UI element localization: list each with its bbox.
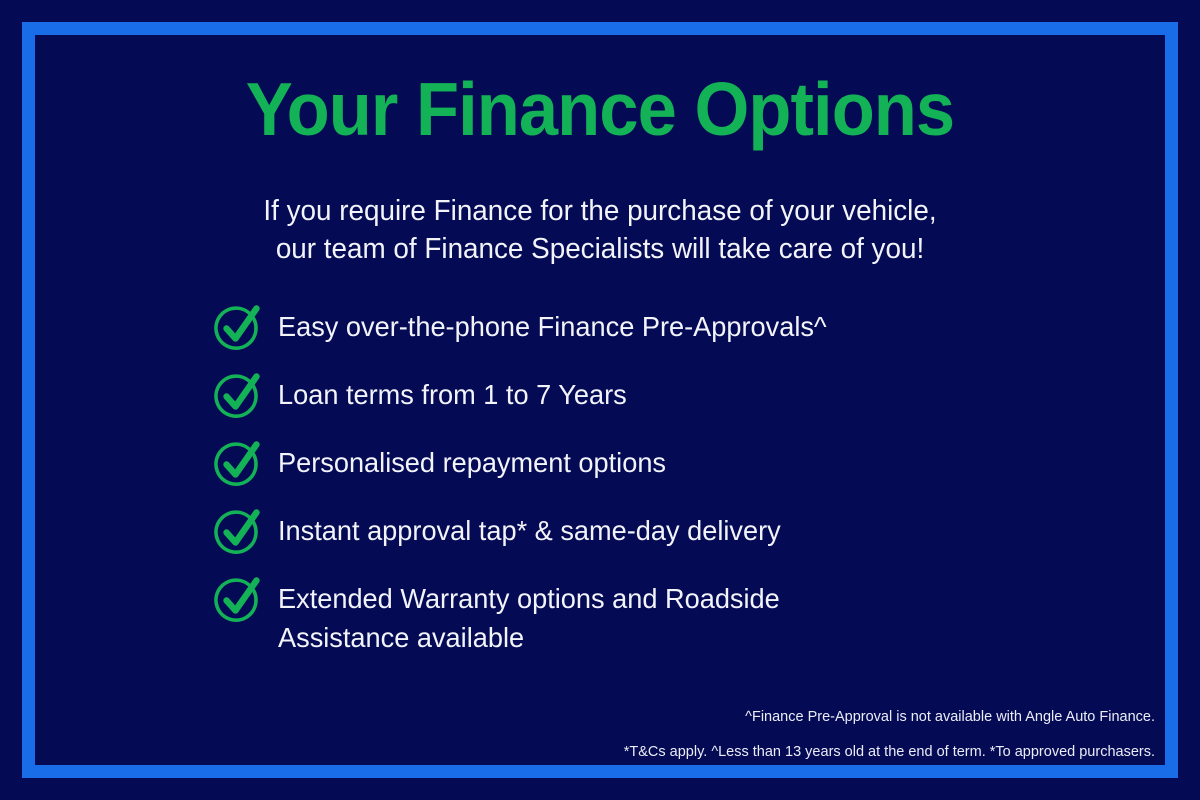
check-circle-icon [212,303,264,353]
page-subtitle: If you require Finance for the purchase … [24,192,1176,268]
benefits-list: Easy over-the-phone Finance Pre-Approval… [212,305,1092,663]
list-item-label: Loan terms from 1 to 7 Years [278,373,627,414]
footnotes: ^Finance Pre-Approval is not available w… [155,700,1155,770]
check-circle-icon [212,507,264,557]
list-item: Extended Warranty options and Roadside A… [212,577,1092,663]
list-item: Loan terms from 1 to 7 Years [212,373,1092,441]
list-item-label: Instant approval tap* & same-day deliver… [278,509,781,550]
footnote-line-2: *T&Cs apply. ^Less than 13 years old at … [155,735,1155,770]
subtitle-line-1: If you require Finance for the purchase … [24,192,1176,230]
check-circle-icon [212,371,264,421]
banner-content: Your Finance Options If you require Fina… [0,0,1200,800]
list-item: Easy over-the-phone Finance Pre-Approval… [212,305,1092,373]
list-item-label: Extended Warranty options and Roadside A… [278,577,780,657]
footnote-line-1: ^Finance Pre-Approval is not available w… [155,700,1155,735]
subtitle-line-2: our team of Finance Specialists will tak… [24,230,1176,268]
list-item-label: Easy over-the-phone Finance Pre-Approval… [278,305,827,346]
list-item: Instant approval tap* & same-day deliver… [212,509,1092,577]
check-circle-icon [212,575,264,625]
list-item-label: Personalised repayment options [278,441,666,482]
check-circle-icon [212,439,264,489]
list-item: Personalised repayment options [212,441,1092,509]
page-title: Your Finance Options [36,72,1164,147]
finance-options-banner: Your Finance Options If you require Fina… [0,0,1200,800]
